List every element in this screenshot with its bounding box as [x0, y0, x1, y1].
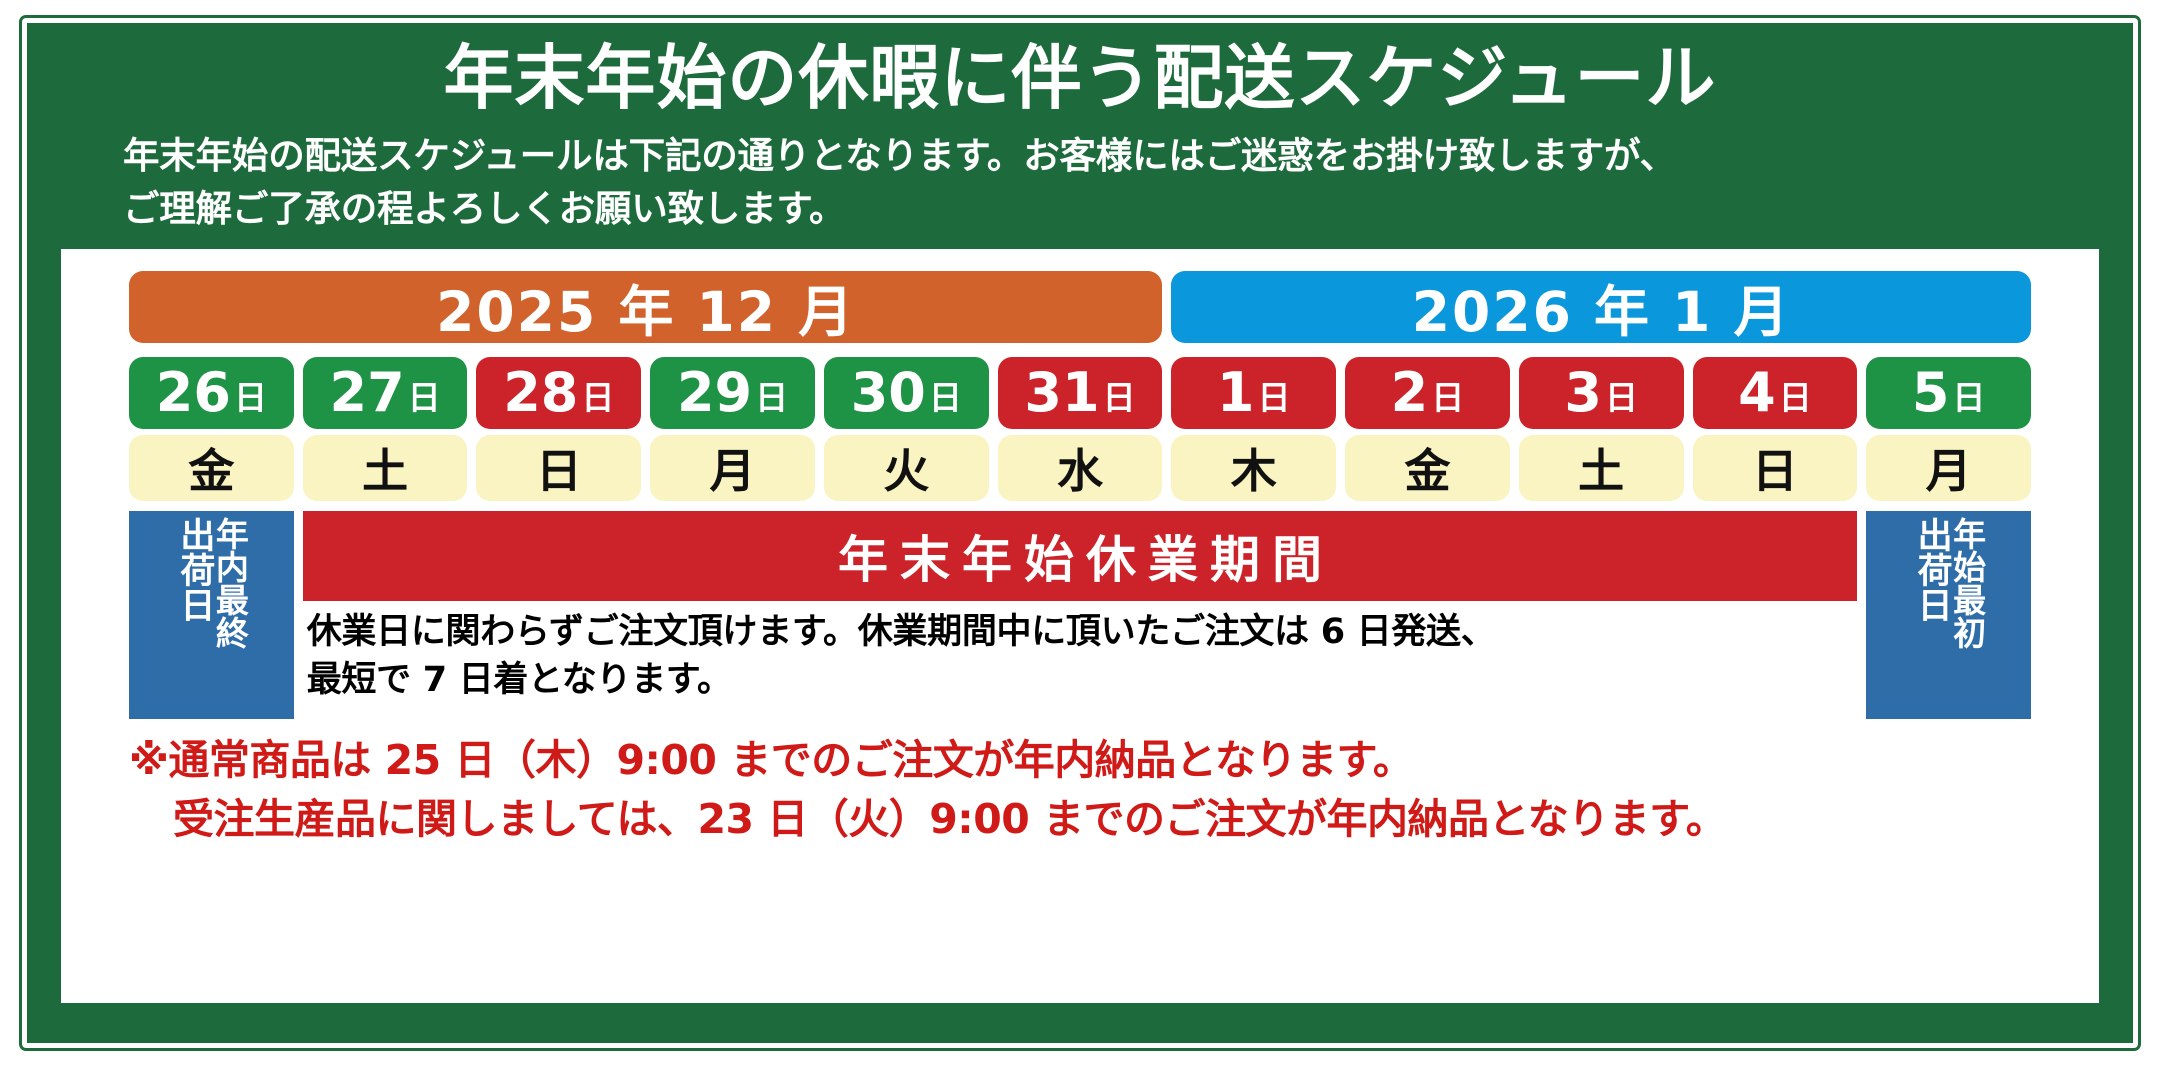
date-number-row: 26 日 27 日 28 日 29 日 30 日 31 日	[83, 357, 2077, 429]
holiday-schedule-banner: 年末年始の休暇に伴う配送スケジュール 年末年始の配送スケジュールは下記の通りとな…	[22, 18, 2138, 1048]
date-number: 31	[1024, 366, 1099, 420]
date-suffix: 日	[1258, 373, 1291, 414]
date-cell: 28 日	[476, 357, 641, 429]
month-bar-december: 2025 年 12 月	[129, 271, 1162, 343]
date-cell: 2 日	[1345, 357, 1510, 429]
badge-left-line-2: 年内最終	[213, 517, 246, 649]
date-number: 26	[156, 366, 231, 420]
date-suffix: 日	[755, 373, 788, 414]
weekday-cell: 金	[129, 435, 294, 501]
date-cell: 30 日	[824, 357, 989, 429]
date-suffix: 日	[234, 373, 267, 414]
badge-last-shipping-day: 出荷日 年内最終	[129, 511, 294, 719]
date-number: 3	[1564, 366, 1602, 420]
date-suffix: 日	[1952, 373, 1985, 414]
holiday-note-line-1: 休業日に関わらずご注文頂けます。休業期間中に頂いたご注文は 6 日発送、	[307, 609, 1856, 656]
month-bar-row: 2025 年 12 月 2026 年 1 月	[83, 271, 2077, 343]
holiday-note: 休業日に関わらずご注文頂けます。休業期間中に頂いたご注文は 6 日発送、 最短で…	[303, 601, 1858, 704]
holiday-period-title: 年末年始休業期間	[303, 511, 1858, 601]
date-suffix: 日	[1431, 373, 1464, 414]
date-suffix: 日	[1103, 373, 1136, 414]
description-line-1: 年末年始の配送スケジュールは下記の通りとなります。お客様にはご迷惑をお掛け致しま…	[123, 130, 2099, 183]
warning-line-1: ※通常商品は 25 日（木）9:00 までのご注文が年内納品となります。	[129, 736, 1413, 784]
weekday-cell: 水	[998, 435, 1163, 501]
date-number: 2	[1391, 366, 1429, 420]
banner-description: 年末年始の配送スケジュールは下記の通りとなります。お客様にはご迷惑をお掛け致しま…	[61, 130, 2099, 236]
date-suffix: 日	[1605, 373, 1638, 414]
date-number: 4	[1738, 366, 1776, 420]
schedule-card: 2025 年 12 月 2026 年 1 月 26 日 27 日 28 日 29…	[61, 249, 2099, 1003]
date-cell: 29 日	[650, 357, 815, 429]
badge-left-line-1: 出荷日	[176, 517, 211, 622]
date-cell: 4 日	[1693, 357, 1858, 429]
month-bar-january: 2026 年 1 月	[1171, 271, 2031, 343]
order-deadline-warning: ※通常商品は 25 日（木）9:00 までのご注文が年内納品となります。 受注生…	[83, 719, 2077, 847]
weekday-cell: 土	[1519, 435, 1684, 501]
badge-right-line-1: 出荷日	[1914, 517, 1949, 622]
weekday-cell: 月	[1866, 435, 2031, 501]
weekday-cell: 土	[303, 435, 468, 501]
badge-first-shipping-day: 出荷日 年始最初	[1866, 511, 2031, 719]
holiday-period-block: 年末年始休業期間 休業日に関わらずご注文頂けます。休業期間中に頂いたご注文は 6…	[303, 511, 1858, 719]
date-cell: 27 日	[303, 357, 468, 429]
date-number: 29	[677, 366, 752, 420]
date-cell: 3 日	[1519, 357, 1684, 429]
date-suffix: 日	[581, 373, 614, 414]
date-number: 5	[1912, 366, 1950, 420]
date-cell: 26 日	[129, 357, 294, 429]
holiday-band-row: 出荷日 年内最終 年末年始休業期間 休業日に関わらずご注文頂けます。休業期間中に…	[83, 511, 2077, 719]
weekday-row: 金 土 日 月 火 水 木 金 土 日 月	[83, 435, 2077, 501]
page-title: 年末年始の休暇に伴う配送スケジュール	[61, 37, 2099, 120]
date-suffix: 日	[408, 373, 441, 414]
warning-line-2: 受注生産品に関しましては、23 日（火）9:00 までのご注文が年内納品となりま…	[129, 790, 2077, 848]
date-number: 1	[1217, 366, 1255, 420]
date-number: 27	[330, 366, 405, 420]
weekday-cell: 日	[476, 435, 641, 501]
date-cell: 5 日	[1866, 357, 2031, 429]
weekday-cell: 火	[824, 435, 989, 501]
description-line-2: ご理解ご了承の程よろしくお願い致します。	[123, 183, 2099, 236]
date-number: 28	[503, 366, 578, 420]
date-cell: 31 日	[998, 357, 1163, 429]
date-suffix: 日	[929, 373, 962, 414]
badge-right-line-2: 年始最初	[1951, 517, 1984, 649]
weekday-cell: 日	[1693, 435, 1858, 501]
weekday-cell: 金	[1345, 435, 1510, 501]
holiday-note-line-2: 最短で 7 日着となります。	[307, 657, 1856, 704]
date-cell: 1 日	[1171, 357, 1336, 429]
weekday-cell: 月	[650, 435, 815, 501]
date-number: 30	[851, 366, 926, 420]
weekday-cell: 木	[1171, 435, 1336, 501]
date-suffix: 日	[1779, 373, 1812, 414]
